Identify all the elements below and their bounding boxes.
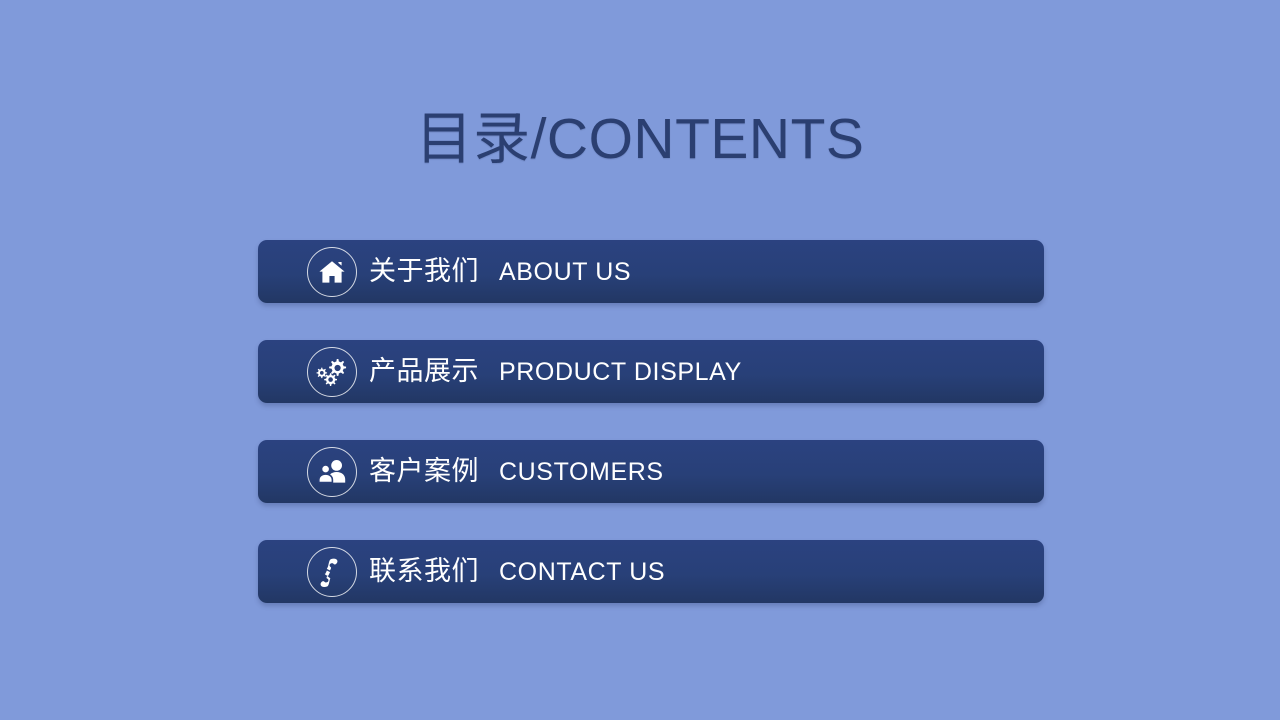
presentation-slide: 目录/CONTENTS 关于我们 ABOUT US <box>0 0 1280 720</box>
people-icon <box>307 447 357 497</box>
contents-item-label: 产品展示 PRODUCT DISPLAY <box>369 356 742 387</box>
contents-item-customers[interactable]: 客户案例 CUSTOMERS <box>258 440 1044 503</box>
contents-item-label: 关于我们 ABOUT US <box>369 256 631 287</box>
contents-item-label-cn: 产品展示 <box>369 356 479 386</box>
contents-item-label-cn: 关于我们 <box>369 256 479 286</box>
page-title: 目录/CONTENTS <box>0 103 1280 175</box>
contents-item-label-cn: 联系我们 <box>369 556 479 586</box>
contents-item-label-en: CUSTOMERS <box>499 457 664 487</box>
contents-item-label-cn: 客户案例 <box>369 456 479 486</box>
contents-list: 关于我们 ABOUT US <box>258 240 1044 603</box>
contents-item-label-en: PRODUCT DISPLAY <box>499 357 742 387</box>
gears-icon <box>307 347 357 397</box>
contents-item-label-en: ABOUT US <box>499 257 631 287</box>
contents-item-product-display[interactable]: 产品展示 PRODUCT DISPLAY <box>258 340 1044 403</box>
contents-item-label: 客户案例 CUSTOMERS <box>369 456 664 487</box>
phone-icon <box>307 547 357 597</box>
home-icon <box>307 247 357 297</box>
contents-item-label: 联系我们 CONTACT US <box>369 556 665 587</box>
contents-item-label-en: CONTACT US <box>499 557 665 587</box>
contents-item-contact-us[interactable]: 联系我们 CONTACT US <box>258 540 1044 603</box>
contents-item-about-us[interactable]: 关于我们 ABOUT US <box>258 240 1044 303</box>
